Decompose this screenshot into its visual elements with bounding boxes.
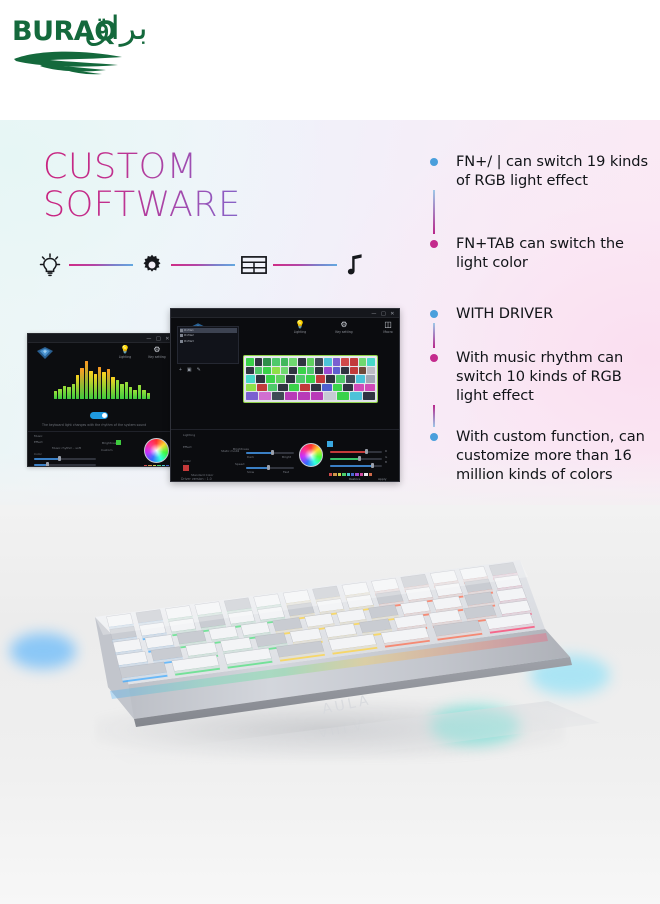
tab-lighting[interactable]: 💡 Lighting [289,320,311,334]
keyboard-preview-key[interactable] [363,392,375,400]
spectrum-bar [125,382,128,399]
logo-header: BURAQ براق [0,0,660,120]
keyboard-preview-key[interactable] [343,384,353,392]
icon-connector-3 [273,264,337,266]
keyboard-preview-key[interactable] [268,384,278,392]
list-item: FN+/ | can switch 19 kinds of RGB light … [428,152,654,190]
music-mode-toggle[interactable] [90,412,108,419]
keyboard-preview-key[interactable] [276,375,285,383]
delete-profile-icon[interactable]: ▣ [187,367,192,373]
tab-label: Macro [377,330,399,334]
keyboard-preview-key[interactable] [324,358,332,366]
keyboard-preview-key[interactable] [350,392,362,400]
keyboard-preview-key[interactable] [311,392,323,400]
spectrum-bar [133,390,136,400]
feature-spacer [428,272,654,304]
tab-lighting[interactable]: 💡 Lighting [114,345,136,359]
keyboard-grid-icon: ◫ [377,320,399,329]
feature-icon-strip [33,250,373,280]
slider-label-brightness: Brightness [233,447,249,451]
keyboard-preview-key[interactable] [298,392,310,400]
profile-icon [180,329,183,332]
keyboard-preview-key[interactable] [255,358,263,366]
brightness-max-label: Bright [282,455,291,459]
music-mode-value[interactable]: Music rhythm - soft [52,446,81,450]
list-item: WITH DRIVER [428,304,654,323]
profile-toolbar[interactable]: + ▣ ✎ [179,367,201,373]
brightness-min-label: Dark [247,455,254,459]
tab-label: Key setting [333,330,355,334]
keyboard-preview-key[interactable] [359,358,367,366]
keyboard-preview-key[interactable] [333,358,341,366]
spectrum-bar [58,389,61,399]
connector-line [433,405,434,427]
feature-text: FN+TAB can switch the light color [456,234,654,272]
connector-line [433,323,434,348]
keyboard-preview-key[interactable] [324,367,332,375]
keyboard-preview-key[interactable] [350,367,358,375]
color-chip[interactable] [116,440,121,445]
divider [171,429,399,430]
speed-slider[interactable] [246,467,294,469]
music-spectrum-visualizer [54,361,150,399]
list-item: With custom function, can customize more… [428,427,654,484]
page-title-line-2: SOFTWARE [43,186,373,224]
add-profile-icon[interactable]: + [179,367,182,373]
keyboard-preview-key[interactable] [289,384,299,392]
section-label-music: Music [34,434,43,438]
spectrum-bar [147,393,150,399]
lightbulb-icon: 💡 [114,345,136,354]
keyboard-preview-key[interactable] [322,384,332,392]
spectrum-bar [54,391,57,399]
rgb-channel-labels: R G B [385,449,387,464]
keyboard-preview-key[interactable] [365,384,375,392]
keyboard-preview-key[interactable] [326,375,335,383]
keyboard-preview-key[interactable] [259,392,271,400]
keyboard-preview-key[interactable] [255,367,263,375]
keyboard-preview-key[interactable] [350,358,358,366]
spectrum-bar [67,387,70,399]
keyboard-preview-key[interactable] [257,384,267,392]
icon-connector-2 [171,264,235,266]
spectrum-bar [98,367,101,399]
keyboard-preview-key[interactable] [281,367,289,375]
bullet-marker [430,433,438,441]
rgb-slider-r[interactable] [330,451,382,453]
feature-text: With music rhythm can switch 10 kinds of… [456,348,654,405]
keyboard-preview-key[interactable] [337,392,349,400]
keyboard-preview-key[interactable] [366,375,375,383]
list-item[interactable]: Profile3 [180,339,237,344]
keyboard-preview-key[interactable] [367,367,375,375]
spectrum-bar [85,361,88,399]
spectrum-bar [89,371,92,400]
color-wheel-icon[interactable] [144,438,169,463]
rgb-keyboard-preview[interactable] [243,355,378,403]
list-item: FN+TAB can switch the light color [428,234,654,272]
spectrum-bar [129,387,132,399]
music-caption: The keyboard light changes with the rhyt… [42,423,146,427]
feature-text: WITH DRIVER [456,304,654,323]
rgb-slider-b[interactable] [330,465,382,467]
section-label-color: Color [183,459,191,463]
list-item[interactable]: Profile2 [180,334,237,339]
speed-min-label: Slow [247,470,254,474]
tab-key-setting[interactable]: ⚙ Key setting [146,345,168,359]
keyboard-preview-key[interactable] [263,367,271,375]
window-tabs[interactable]: 💡 Lighting ⚙ Key setting ◫ Macro ♫ Music [289,320,400,334]
gear-icon: ⚙ [146,345,168,354]
tab-key-setting[interactable]: ⚙ Key setting [333,320,355,334]
channel-r: R [385,449,387,453]
icon-connector-1 [69,264,133,266]
keyboard-preview-key[interactable] [266,375,275,383]
window-tabs[interactable]: 💡 Lighting ⚙ Key setting ◫ Macro ♫ Music [114,345,175,359]
bullet-marker [430,240,438,248]
apply-button[interactable]: Apply [378,477,386,481]
keyboard-grid-icon [237,250,271,280]
feature-list: FN+/ | can switch 19 kinds of RGB light … [428,152,654,484]
window-controls[interactable]: — □ ✕ [146,336,171,342]
profile-icon [180,334,183,337]
feature-connector [428,323,654,348]
tab-label: Lighting [289,330,311,334]
keyboard-preview-key[interactable] [333,367,341,375]
product-photo-stage: AULA AULA [0,505,660,904]
gear-icon [135,250,169,280]
keyboard-preview-key[interactable] [311,384,321,392]
brand-logo[interactable]: BURAQ براق [8,16,138,78]
spectrum-bar [120,384,123,399]
profile-label: Profile1 [184,329,194,332]
keyboard-preview-row [246,367,375,375]
window-controls[interactable]: — □ ✕ [371,311,396,317]
keyboard-preview-key[interactable] [246,375,255,383]
section-label-color: Color [34,452,42,456]
feature-text: With custom function, can customize more… [456,427,654,484]
window-titlebar: — □ ✕ [28,334,174,343]
keyboard-preview-key[interactable] [281,358,289,366]
keyboard-preview-key[interactable] [246,392,258,400]
keyboard-preview-key[interactable] [263,358,271,366]
keyboard-preview-key[interactable] [346,375,355,383]
brightness-slider[interactable] [246,452,294,454]
window-titlebar: — □ ✕ [171,309,399,318]
connector-line [433,190,434,234]
section-label-lighting: Lighting [183,433,195,437]
keyboard-preview-key[interactable] [289,367,297,375]
gear-icon: ⚙ [333,320,355,329]
keyboard-preview-key[interactable] [307,367,315,375]
keyboard-preview-key[interactable] [356,375,365,383]
lightbulb-icon: 💡 [289,320,311,329]
tab-label: Key setting [146,355,168,359]
tab-macro[interactable]: ◫ Macro [377,320,399,334]
keyboard-preview-key[interactable] [316,375,325,383]
wing-swoosh-icon [10,46,136,76]
keyboard-preview-key[interactable] [246,367,254,375]
aula-diamond-logo-icon [35,346,55,360]
keyboard-preview-key[interactable] [256,375,265,383]
spectrum-bar [111,377,114,399]
spectrum-bar [142,390,145,399]
feature-text: FN+/ | can switch 19 kinds of RGB light … [456,152,654,190]
product-banner-page: BURAQ براق CUSTOM SOFTWARE [0,0,660,904]
spectrum-bar [116,380,119,399]
custom-checkbox-label[interactable]: Custom [101,448,113,452]
restore-button[interactable]: Restore [349,477,360,481]
keyboard-preview-key[interactable] [278,384,288,392]
section-label-effect: Effect [34,440,43,444]
keyboard-preview-key[interactable] [306,375,315,383]
spectrum-bar [76,375,79,399]
keyboard-preview-row [246,358,375,366]
speed-slider[interactable] [34,464,96,466]
keyboard-preview-key[interactable] [336,375,345,383]
channel-g: G [385,455,387,459]
feature-connector [428,405,654,427]
keyboard-preview-key[interactable] [246,358,254,366]
lightbulb-icon [33,250,67,280]
keyboard-preview-key[interactable] [285,392,297,400]
rgb-slider-g[interactable] [330,458,382,460]
spectrum-bar [80,368,83,399]
keyboard-preview-key[interactable] [333,384,343,392]
divider [28,431,174,432]
color-wheel-icon[interactable] [299,443,323,467]
channel-b: B [385,460,387,464]
keyboard-preview-key[interactable] [341,367,349,375]
keyboard-preview-key[interactable] [296,375,305,383]
keyboard-preview-key[interactable] [289,358,297,366]
keyboard-preview-key[interactable] [272,392,284,400]
bullet-marker [430,354,438,362]
spectrum-bar [138,385,141,399]
page-title: CUSTOM SOFTWARE [43,148,373,224]
slider-label-speed: Speed [235,462,244,466]
profile-list[interactable]: Profile1 Profile2 Profile3 [177,326,239,364]
music-note-icon [339,250,373,280]
bullet-marker [430,310,438,318]
brand-arabic-wordmark: براق [84,12,147,44]
brightness-slider[interactable] [34,458,96,460]
standard-color-chip[interactable] [183,465,189,471]
feature-connector [428,190,654,234]
spectrum-bar [94,374,97,399]
list-item[interactable]: Profile1 [180,328,237,333]
profile-icon [180,340,183,343]
spectrum-bar [63,386,66,399]
page-title-line-1: CUSTOM [43,148,373,186]
profile-label: Profile2 [184,334,194,337]
keyboard-preview-key[interactable] [341,358,349,366]
spectrum-bar [102,372,105,399]
current-color-chip[interactable] [327,441,333,447]
keyboard-preview-key[interactable] [298,367,306,375]
keyboard-preview-key[interactable] [272,367,280,375]
product-keyboard-photo: AULA AULA [0,505,660,904]
spectrum-bar [72,384,75,399]
profile-label: Profile3 [184,340,194,343]
speed-max-label: Fast [283,470,289,474]
keyboard-preview-key[interactable] [367,358,375,366]
keyboard-preview-key[interactable] [300,384,310,392]
keyboard-preview-key[interactable] [298,358,306,366]
keyboard-preview-key[interactable] [286,375,295,383]
list-item: With music rhythm can switch 10 kinds of… [428,348,654,405]
keyboard-preview-key[interactable] [272,358,280,366]
section-label-effect: Effect [183,445,192,449]
keyboard-preview-key[interactable] [315,358,323,366]
tab-label: Lighting [114,355,136,359]
spectrum-bar [107,369,110,399]
keyboard-preview-row [246,384,375,392]
bullet-marker [430,158,438,166]
keyboard-preview-key[interactable] [359,367,367,375]
keyboard-preview-row [246,375,375,383]
keyboard-preview-key[interactable] [324,392,336,400]
keyboard-preview-key[interactable] [354,384,364,392]
keyboard-preview-key[interactable] [315,367,323,375]
software-music-window[interactable]: — □ ✕ 💡 Lighting ⚙ Key setting ◫ Macro ♫… [27,333,175,467]
keyboard-preview-key[interactable] [246,384,256,392]
color-swatch-row[interactable] [329,473,372,476]
edit-profile-icon[interactable]: ✎ [197,367,201,373]
keyboard-preview-key[interactable] [307,358,315,366]
keyboard-preview-row [246,392,375,400]
software-lighting-window[interactable]: — □ ✕ 💡 Lighting ⚙ Key setting ◫ Macro ♫… [170,308,400,482]
footer-version: Driver version : 1.0 [181,477,212,481]
